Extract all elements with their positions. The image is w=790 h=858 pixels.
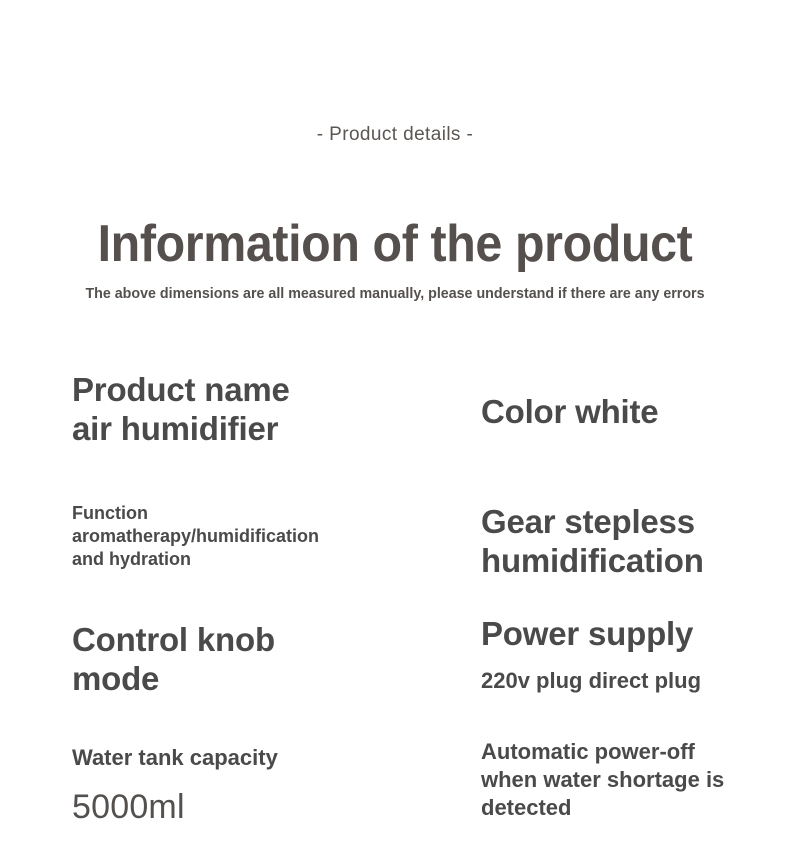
spec-auto-power-off: Automatic power-offwhen water shortage i…	[481, 738, 724, 822]
spec-power-supply-line-0: Power supply	[481, 614, 701, 653]
spec-gear-mode: Gear steplesshumidification	[481, 502, 704, 580]
spec-water-tank-capacity-line-0: Water tank capacity	[72, 744, 278, 772]
spec-function-line-1: aromatherapy/humidification	[72, 525, 319, 548]
spec-power-supply: Power supply220v plug direct plug	[481, 614, 701, 695]
spec-control-mode-line-0: Control knob	[72, 620, 275, 659]
spec-product-name: Product nameair humidifier	[72, 370, 290, 448]
spec-auto-power-off-line-1: when water shortage is	[481, 766, 724, 794]
spec-water-tank-capacity-line-1: 5000ml	[72, 786, 278, 828]
spec-gear-mode-line-1: humidification	[481, 541, 704, 580]
page-title: Information of the product	[28, 213, 763, 275]
spec-product-name-line-0: Product name	[72, 370, 290, 409]
spec-color-line-0: Color white	[481, 392, 658, 431]
spec-color: Color white	[481, 392, 658, 431]
product-details-page: - Product details - Information of the p…	[0, 0, 790, 858]
spec-gear-mode-line-0: Gear stepless	[481, 502, 704, 541]
spec-function-line-0: Function	[72, 502, 319, 525]
eyebrow-label: - Product details -	[0, 124, 790, 146]
spec-control-mode: Control knobmode	[72, 620, 275, 698]
measurement-disclaimer: The above dimensions are all measured ma…	[20, 283, 771, 305]
spec-auto-power-off-line-0: Automatic power-off	[481, 738, 724, 766]
spec-power-supply-line-1: 220v plug direct plug	[481, 667, 701, 695]
spec-water-tank-capacity: Water tank capacity5000ml	[72, 744, 278, 828]
spec-control-mode-line-1: mode	[72, 659, 275, 698]
spec-function-line-2: and hydration	[72, 548, 319, 571]
spec-product-name-line-1: air humidifier	[72, 409, 290, 448]
spec-auto-power-off-line-2: detected	[481, 794, 724, 822]
spec-function: Functionaromatherapy/humidificationand h…	[72, 502, 319, 571]
